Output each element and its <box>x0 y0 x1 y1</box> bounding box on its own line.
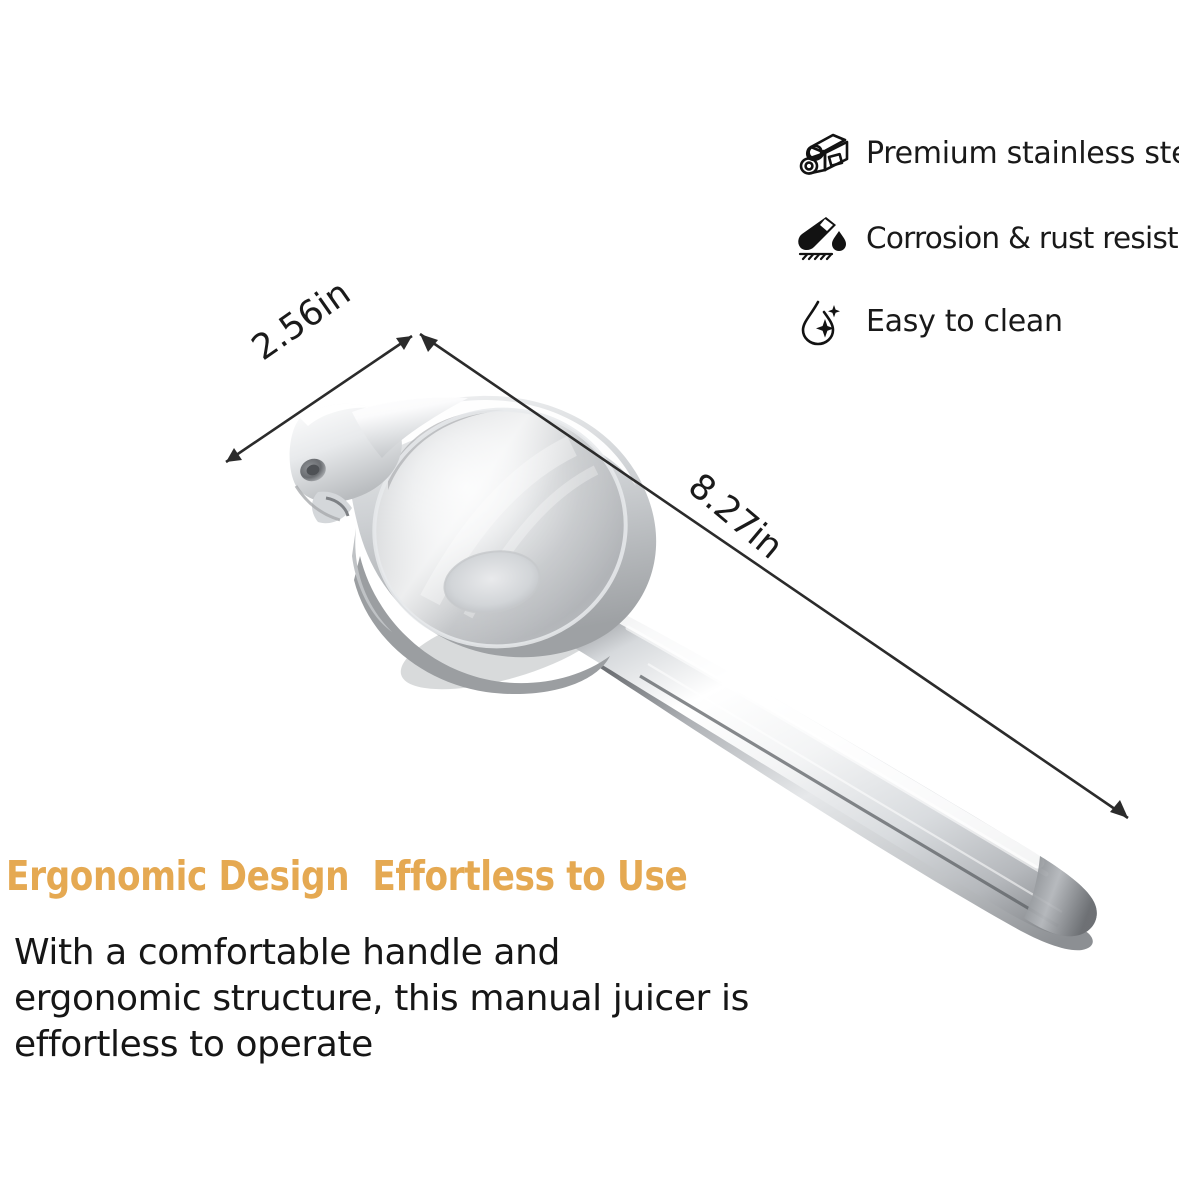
hinge-head <box>290 404 402 502</box>
hinge-pivot-hole <box>297 456 329 485</box>
bowl-floor-edge <box>440 544 545 620</box>
bowl-spout-edge <box>352 528 392 632</box>
hinge-latch-line <box>326 498 348 516</box>
bowl-brush-streak-2 <box>468 470 596 616</box>
dimension-lines <box>226 334 1128 818</box>
bowl-rim-line <box>352 386 648 669</box>
handle-seam-highlight <box>648 664 1062 912</box>
handle-tip <box>1024 856 1097 936</box>
bowl-sheen <box>352 386 648 669</box>
dim-length-arrowhead-bottom <box>1110 800 1128 818</box>
dim-width-arrowhead-bottom <box>226 448 242 462</box>
hinge-pivot-bore <box>305 463 321 477</box>
dim-length-arrowhead-top <box>420 334 438 352</box>
body-copy: With a comfortable handle and ergonomic … <box>14 930 754 1068</box>
metal-pipes-icon <box>795 126 851 182</box>
headline: Ergonomic Design Effortless to Use <box>6 852 687 900</box>
bowl-frame-highlight <box>360 400 636 486</box>
dim-length-line <box>420 334 1128 818</box>
feature-label-corrosion-rust-resistant: Corrosion & rust resistant <box>851 223 1179 254</box>
product-infographic: 2.56in 8.27in <box>0 0 1179 1179</box>
bowl-inner-shadow <box>388 410 504 490</box>
bowl-underside-rim <box>354 556 610 694</box>
dimension-length-label: 8.27in <box>680 466 790 567</box>
feature-row-corrosion-rust-resistant: Corrosion & rust resistant <box>795 196 1179 280</box>
hinge-lower-edge <box>296 486 340 520</box>
dimension-width-label: 2.56in <box>245 273 358 369</box>
feature-row-easy-to-clean: Easy to clean <box>795 280 1179 364</box>
feature-label-premium-stainless-steel: Premium stainless steel <box>851 138 1179 170</box>
dim-width-line <box>226 336 412 462</box>
handle-lower-arm <box>600 652 1093 950</box>
test-tube-droplet-icon <box>795 210 851 266</box>
feature-list: Premium stainless steel <box>795 112 1179 364</box>
bowl-outer-frame <box>349 396 656 657</box>
dim-width-arrowhead-top <box>396 336 412 350</box>
sparkling-droplet-icon <box>795 294 851 350</box>
handle-specular-thin <box>628 628 1046 874</box>
hinge-neck <box>352 398 468 458</box>
bowl-brush-streak-1 <box>430 446 572 600</box>
product-shadow <box>392 583 618 708</box>
bowl-cavity <box>352 386 648 669</box>
hinge-head-highlight <box>300 404 372 426</box>
feature-row-premium-stainless-steel: Premium stainless steel <box>795 112 1179 196</box>
handle-specular <box>612 612 1038 862</box>
feature-label-easy-to-clean: Easy to clean <box>851 306 1063 338</box>
bowl-floor <box>440 544 545 620</box>
handle-seam <box>640 676 1058 926</box>
hinge-latch <box>312 492 352 524</box>
